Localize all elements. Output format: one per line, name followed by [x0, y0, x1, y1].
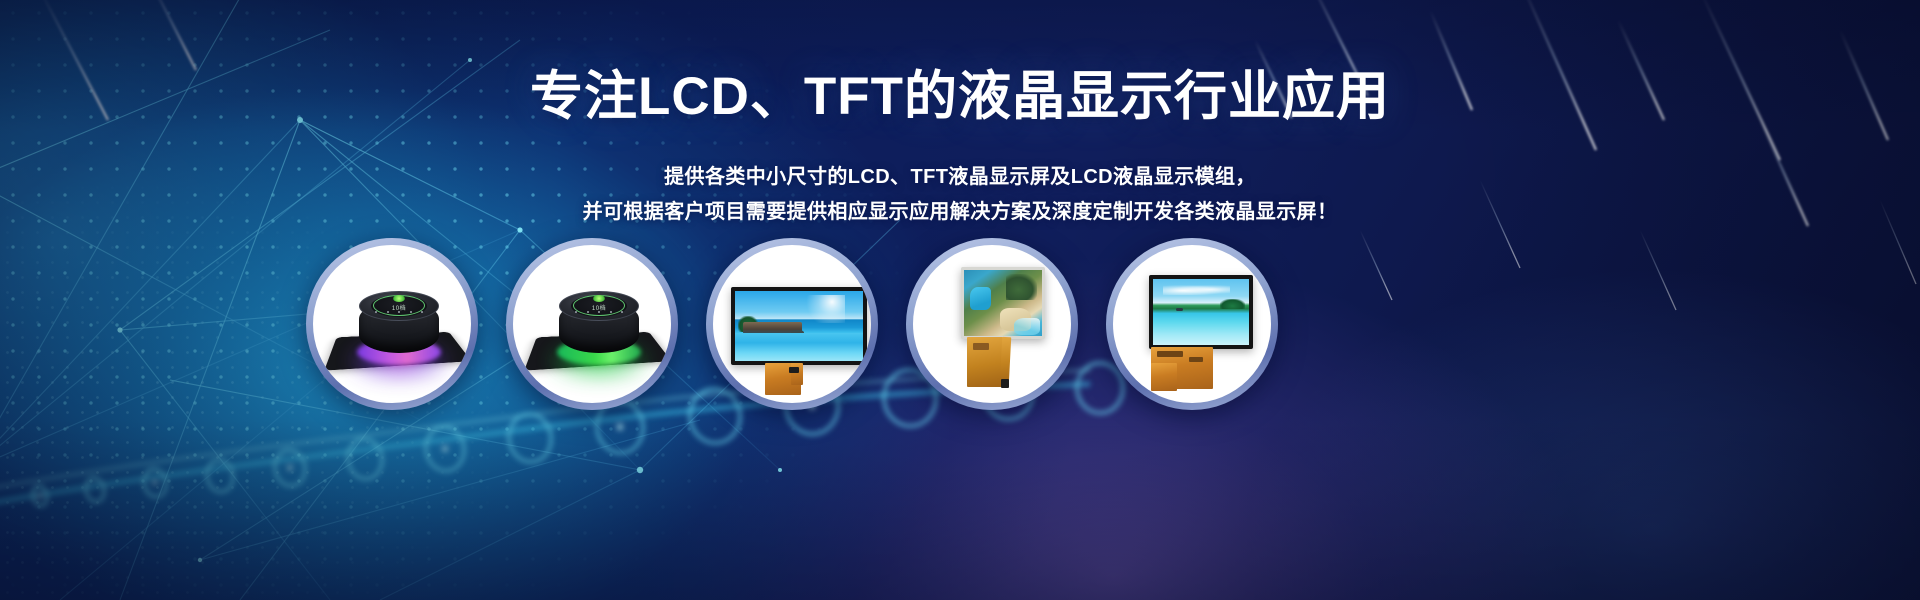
panel-driver-chip — [973, 343, 989, 350]
product-circle-smart-hub-green[interactable]: 10档 — [506, 238, 678, 410]
panel-driver-chip-2 — [1189, 357, 1203, 362]
panel-bezel — [1149, 275, 1253, 349]
subtitle-line-2: 并可根据客户项目需要提供相应显示应用解决方案及深度定制开发各类液晶显示屏！ — [0, 195, 1920, 229]
product-circle-tft-4x3[interactable] — [906, 238, 1078, 410]
circle-disc — [913, 245, 1071, 403]
panel-driver-chip — [789, 367, 799, 373]
panel-bezel — [961, 267, 1045, 339]
product-circle-smart-hub-purple[interactable]: 10档 — [306, 238, 478, 410]
panel-connector — [1001, 379, 1009, 388]
device-touch-dots — [375, 311, 423, 313]
device-dial-indicator — [593, 295, 605, 302]
product-circle-row: 10档 10档 — [0, 238, 1920, 410]
panel-screen — [1153, 279, 1249, 345]
screen-image-tropical-beach — [1153, 279, 1249, 345]
hero-banner: 专注LCD、TFT的液晶显示行业应用 提供各类中小尺寸的LCD、TFT液晶显示屏… — [0, 0, 1920, 600]
screen-image-infinity-pool — [735, 291, 863, 361]
page-title: 专注LCD、TFT的液晶显示行业应用 — [0, 66, 1920, 128]
circle-disc — [713, 245, 871, 403]
tft-4x3-image — [913, 245, 1071, 403]
device-touch-dots — [575, 311, 623, 313]
panel-screen — [964, 270, 1042, 336]
circle-disc: 10档 — [313, 245, 471, 403]
panel-screen — [735, 291, 863, 361]
product-circle-tft-widescreen[interactable] — [706, 238, 878, 410]
device-dial-indicator — [393, 295, 405, 302]
tft-beach-image — [1113, 245, 1271, 403]
panel-fpc-tail — [1151, 363, 1177, 391]
subtitle-line-1: 提供各类中小尺寸的LCD、TFT液晶显示屏及LCD液晶显示模组， — [0, 160, 1920, 194]
panel-fpc-tail — [1000, 337, 1011, 385]
product-circle-tft-beach[interactable] — [1106, 238, 1278, 410]
panel-driver-chip — [1157, 351, 1183, 357]
smart-hub-green-image: 10档 — [513, 245, 671, 403]
smart-hub-purple-image: 10档 — [313, 245, 471, 403]
panel-bezel — [731, 287, 867, 365]
tft-widescreen-image — [713, 245, 871, 403]
circle-disc — [1113, 245, 1271, 403]
screen-image-aerial-coast — [964, 270, 1042, 336]
circle-disc: 10档 — [513, 245, 671, 403]
